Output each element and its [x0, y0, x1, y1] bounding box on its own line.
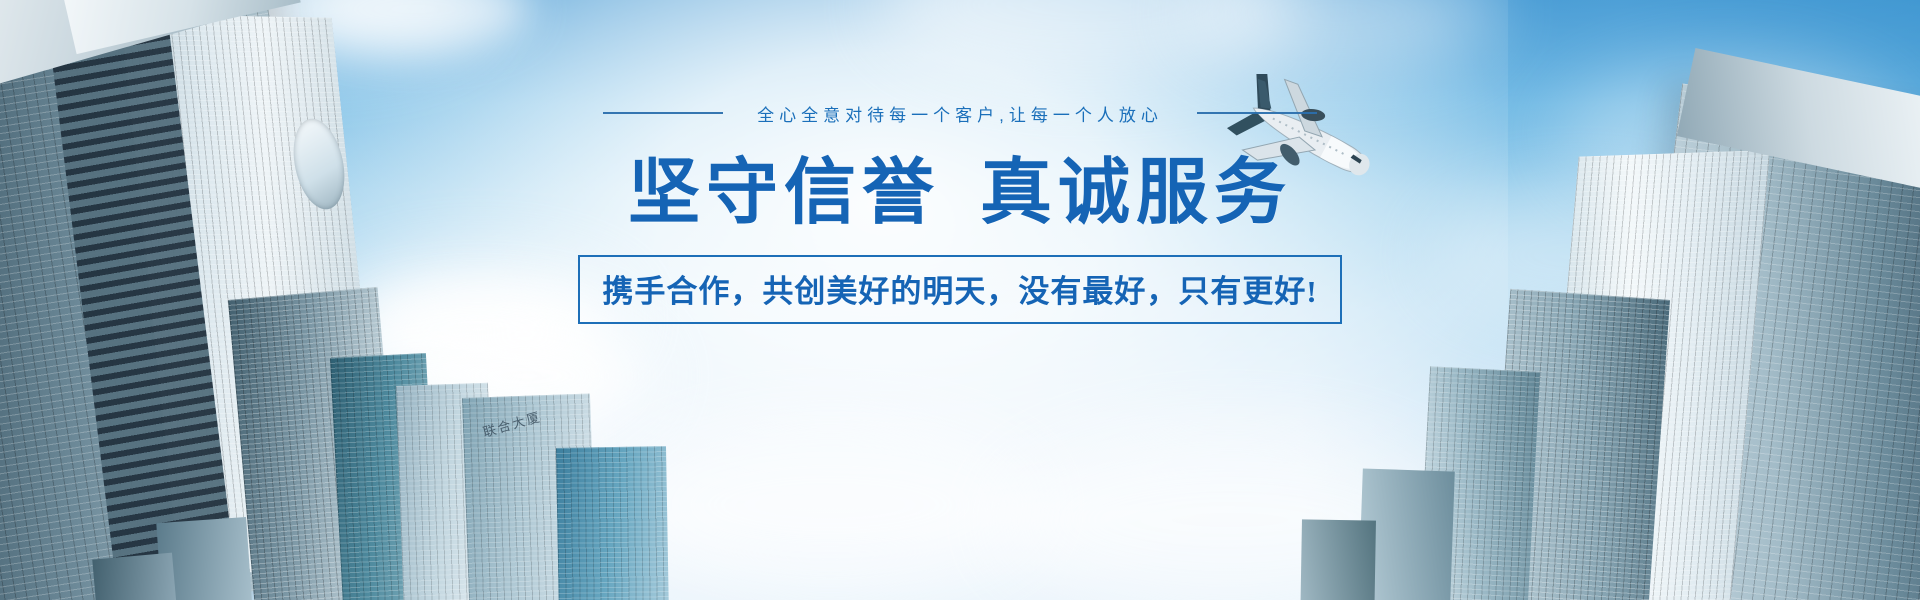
hero-banner: 联合大厦: [0, 0, 1920, 600]
headline-part-one: 坚守信誉: [628, 153, 940, 233]
building-distant-right-b: [1300, 519, 1376, 600]
building-blue-glass: [556, 446, 669, 600]
subtitle-text: 携手合作，共创美好的明天，没有最好，只有更好!: [578, 255, 1341, 324]
subtitle-wrapper: 携手合作，共创美好的明天，没有最好，只有更好!: [0, 255, 1920, 324]
left-rule: [603, 112, 723, 114]
building-distant-left-b: [92, 553, 180, 600]
headline-part-two: 真诚服务: [940, 153, 1292, 233]
eyebrow-text: 全心全意对待每一个客户,让每一个人放心: [757, 101, 1163, 126]
eyebrow-row: 全心全意对待每一个客户,让每一个人放心: [0, 96, 1920, 130]
right-rule: [1197, 112, 1317, 114]
page-title: 坚守信誉真诚服务: [0, 154, 1920, 233]
banner-copy: 全心全意对待每一个客户,让每一个人放心 坚守信誉真诚服务 携手合作，共创美好的明…: [0, 96, 1920, 324]
